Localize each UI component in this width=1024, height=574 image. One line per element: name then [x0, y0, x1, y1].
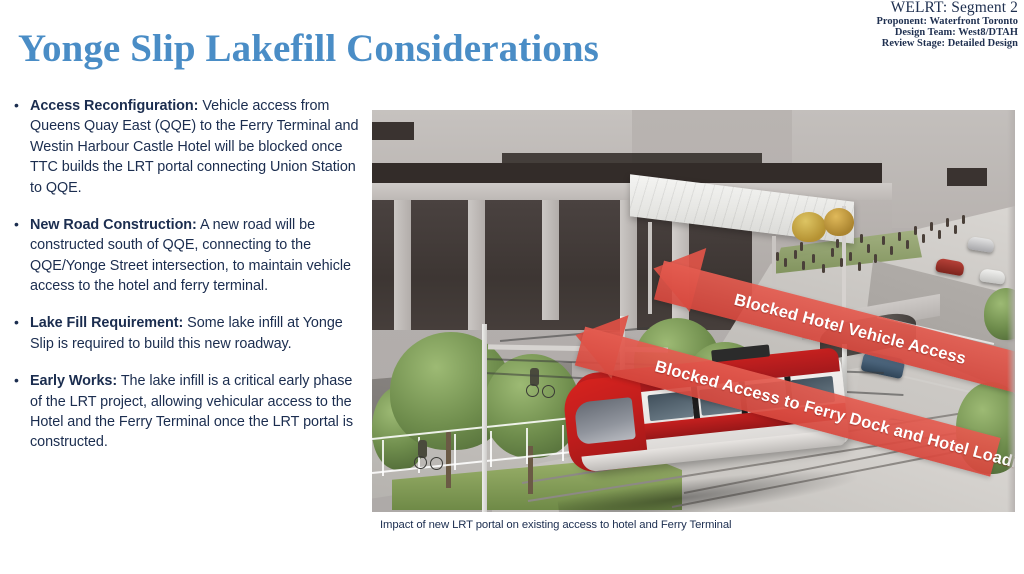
tree-autumn	[824, 208, 854, 236]
figure-caption: Impact of new LRT portal on existing acc…	[380, 519, 731, 531]
project-header-design-team: Design Team: West8/DTAH	[876, 27, 1018, 38]
bullet-marker: •	[14, 313, 19, 333]
list-item: • New Road Construction: A new road will…	[8, 215, 360, 297]
rendering-image: Blocked Hotel Vehicle Access Blocked Acc…	[372, 110, 1015, 512]
building-beam	[372, 163, 882, 183]
page-title: Yonge Slip Lakefill Considerations	[18, 26, 599, 71]
list-item-lead: Early Works:	[30, 373, 117, 389]
tree-autumn	[792, 212, 826, 242]
project-header-proponent: Proponent: Waterfront Toronto	[876, 16, 1018, 27]
bullet-marker: •	[14, 371, 19, 391]
project-header-title: WELRT: Segment 2	[876, 0, 1018, 16]
building-column	[542, 200, 559, 320]
building-column	[468, 200, 485, 330]
list-item-lead: Access Reconfiguration:	[30, 98, 198, 114]
project-header-review-stage: Review Stage: Detailed Design	[876, 38, 1018, 49]
bullet-marker: •	[14, 215, 19, 235]
streetcar-windshield	[574, 397, 636, 445]
building-notch-right	[947, 168, 987, 186]
bullet-marker: •	[14, 96, 19, 116]
project-header: WELRT: Segment 2 Proponent: Waterfront T…	[876, 0, 1018, 49]
list-item-lead: Lake Fill Requirement:	[30, 315, 183, 331]
bullet-list: • Access Reconfiguration: Vehicle access…	[8, 96, 360, 453]
list-item: • Lake Fill Requirement: Some lake infil…	[8, 313, 360, 354]
list-item-lead: New Road Construction:	[30, 217, 197, 233]
list-item: • Access Reconfiguration: Vehicle access…	[8, 96, 360, 198]
list-item: • Early Works: The lake infill is a crit…	[8, 371, 360, 453]
building-column	[394, 200, 411, 330]
slide-canvas: WELRT: Segment 2 Proponent: Waterfront T…	[0, 0, 1024, 574]
building-notch-left	[372, 122, 414, 140]
building-column	[620, 200, 637, 330]
catenary-pole	[482, 324, 487, 512]
image-edge-fade	[1007, 110, 1015, 512]
